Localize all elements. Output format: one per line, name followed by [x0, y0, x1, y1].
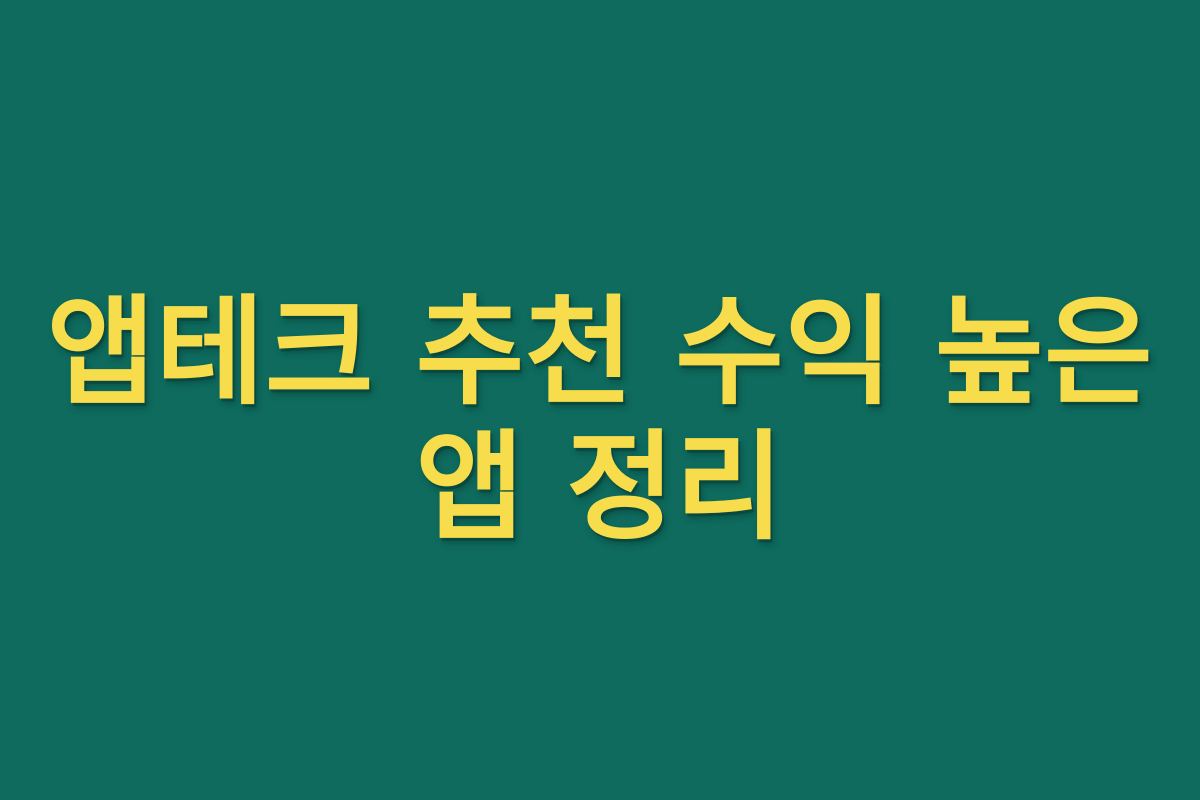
title-line-1: 앱테크 추천 수익 높은 [0, 285, 1200, 420]
title-line-2: 앱 정리 [0, 420, 1200, 555]
thumbnail-canvas: 앱테크 추천 수익 높은 앱 정리 [0, 0, 1200, 800]
title-block: 앱테크 추천 수익 높은 앱 정리 [0, 285, 1200, 555]
